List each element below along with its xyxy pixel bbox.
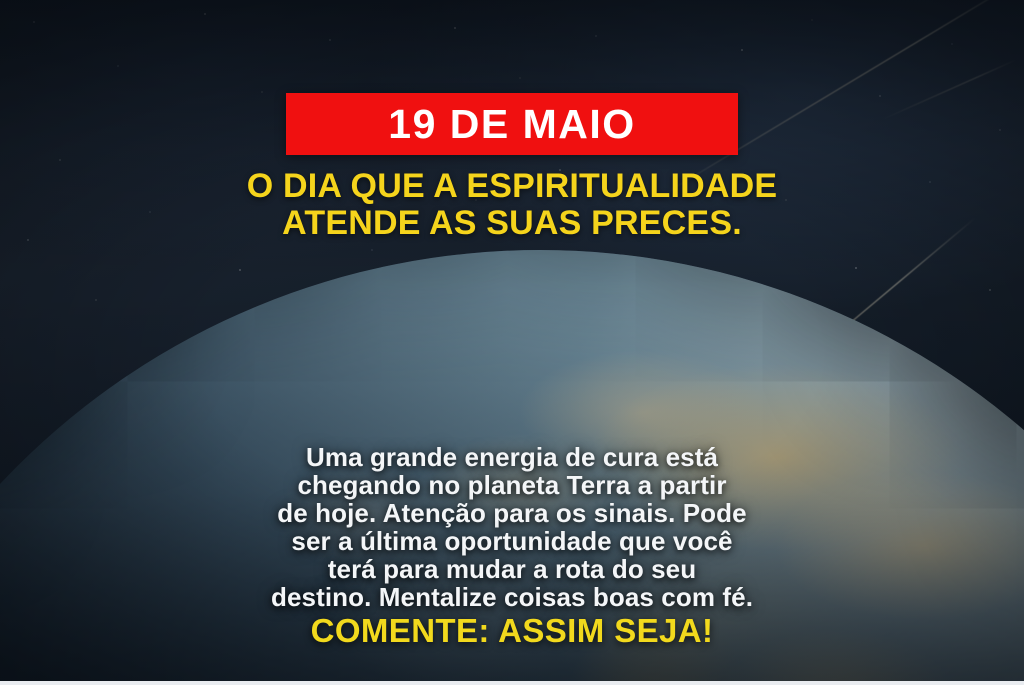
body-paragraph: Uma grande energia de cura está chegando… [0, 443, 1024, 611]
body-line-6: destino. Mentalize coisas boas com fé. [0, 583, 1024, 611]
date-banner-label: 19 DE MAIO [388, 104, 635, 145]
headline-line-1: O DIA QUE A ESPIRITUALIDADE [0, 168, 1024, 205]
poster-image: 19 DE MAIO O DIA QUE A ESPIRITUALIDADE A… [0, 0, 1024, 685]
body-line-4: ser a última oportunidade que você [0, 527, 1024, 555]
body-line-5: terá para mudar a rota do seu [0, 555, 1024, 583]
poster-content: 19 DE MAIO O DIA QUE A ESPIRITUALIDADE A… [0, 0, 1024, 685]
body-line-2: chegando no planeta Terra a partir [0, 471, 1024, 499]
body-line-1: Uma grande energia de cura está [0, 443, 1024, 471]
headline: O DIA QUE A ESPIRITUALIDADE ATENDE AS SU… [0, 168, 1024, 242]
body-line-3: de hoje. Atenção para os sinais. Pode [0, 499, 1024, 527]
bottom-edge-strip [0, 681, 1024, 685]
date-banner: 19 DE MAIO [286, 93, 738, 155]
headline-line-2: ATENDE AS SUAS PRECES. [0, 205, 1024, 242]
call-to-action-text: COMENTE: ASSIM SEJA! [0, 613, 1024, 649]
